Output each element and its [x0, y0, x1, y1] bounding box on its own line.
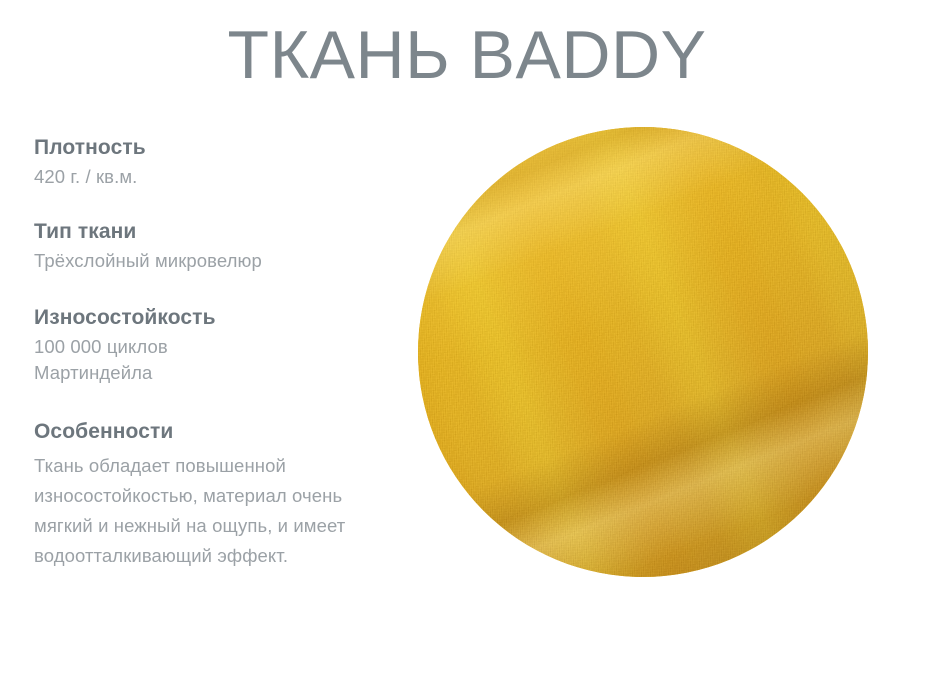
spec-block-density: Плотность 420 г. / кв.м. — [34, 134, 394, 190]
spec-value-durability: 100 000 циклов Мартиндейла — [34, 334, 394, 386]
fabric-swatch-photo — [418, 127, 868, 577]
spec-block-features: Особенности Ткань обладает повышенной из… — [34, 418, 394, 571]
page-title: ТКАНЬ BADDY — [0, 14, 934, 96]
fabric-spec-slide: ТКАНЬ BADDY Плотность 420 г. / кв.м. Тип… — [0, 0, 934, 700]
spec-heading-features: Особенности — [34, 418, 394, 445]
spec-value-density: 420 г. / кв.м. — [34, 164, 394, 190]
spec-value-fabric-type: Трёхслойный микровелюр — [34, 248, 394, 274]
spec-heading-fabric-type: Тип ткани — [34, 218, 394, 245]
fabric-vignette — [418, 127, 868, 577]
spec-heading-density: Плотность — [34, 134, 394, 161]
spec-heading-durability: Износостойкость — [34, 304, 394, 331]
spec-block-durability: Износостойкость 100 000 циклов Мартиндей… — [34, 304, 394, 386]
spec-value-features: Ткань обладает повышенной износостойкост… — [34, 451, 394, 571]
spec-block-fabric-type: Тип ткани Трёхслойный микровелюр — [34, 218, 394, 274]
spec-list: Плотность 420 г. / кв.м. Тип ткани Трёхс… — [34, 134, 394, 571]
